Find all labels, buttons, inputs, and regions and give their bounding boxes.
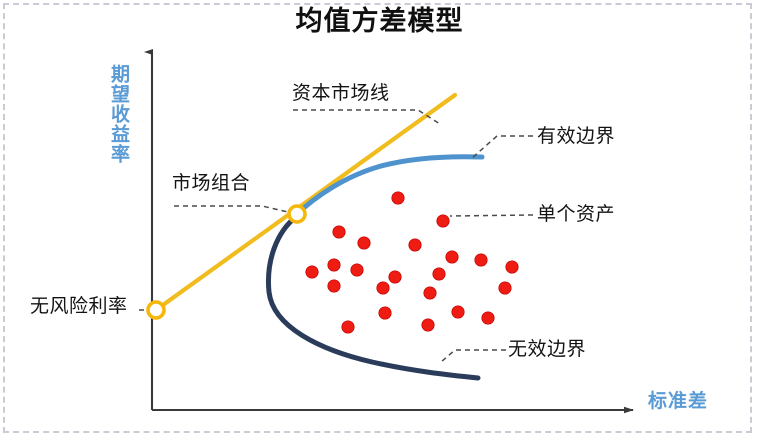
annotation-risk-free-rate: 无风险利率 — [30, 297, 128, 317]
leader-line-market-portfolio — [174, 206, 288, 212]
asset-dot — [409, 239, 421, 251]
asset-dot — [377, 282, 389, 294]
asset-dot — [389, 271, 401, 283]
asset-dot — [482, 312, 494, 324]
asset-dot — [392, 192, 404, 204]
asset-dot — [452, 306, 464, 318]
annotation-single-asset: 单个资产 — [537, 205, 615, 225]
asset-dot — [446, 251, 458, 263]
asset-dot — [358, 237, 370, 249]
leader-line-single-asset — [450, 215, 533, 216]
market-portfolio-marker[interactable] — [289, 206, 305, 222]
y-axis-label: 期望收益率 — [100, 64, 128, 164]
x-axis-label: 标准差 — [648, 392, 708, 412]
asset-dot-group — [306, 192, 518, 333]
asset-dot — [433, 268, 445, 280]
asset-dot — [424, 287, 436, 299]
asset-dot — [499, 282, 511, 294]
annotation-efficient-frontier: 有效边界 — [537, 127, 615, 147]
page-title: 均值方差模型 — [0, 8, 759, 36]
annotation-capital-market-line: 资本市场线 — [292, 84, 390, 104]
asset-dot — [422, 319, 434, 331]
asset-dot — [506, 261, 518, 273]
risk-free-rate-marker[interactable] — [148, 302, 164, 318]
annotation-market-portfolio: 市场组合 — [172, 174, 250, 194]
asset-dot — [351, 264, 363, 276]
leader-line-inefficient-frontier — [441, 350, 506, 362]
asset-dot — [328, 259, 340, 271]
asset-dot — [437, 215, 449, 227]
inefficient-frontier-curve — [268, 216, 478, 378]
asset-dot — [333, 226, 345, 238]
asset-dot — [328, 280, 340, 292]
efficient-frontier-curve — [297, 157, 482, 214]
diagram-canvas: 均值方差模型 期望收益率 标准差 资本市场线 有效边界 单个资产 无效边界 市场… — [0, 0, 759, 440]
asset-dot — [475, 254, 487, 266]
asset-dot — [342, 321, 354, 333]
annotation-inefficient-frontier: 无效边界 — [508, 340, 586, 360]
asset-dot — [379, 307, 391, 319]
asset-dot — [306, 266, 318, 278]
capital-market-line — [156, 95, 455, 310]
